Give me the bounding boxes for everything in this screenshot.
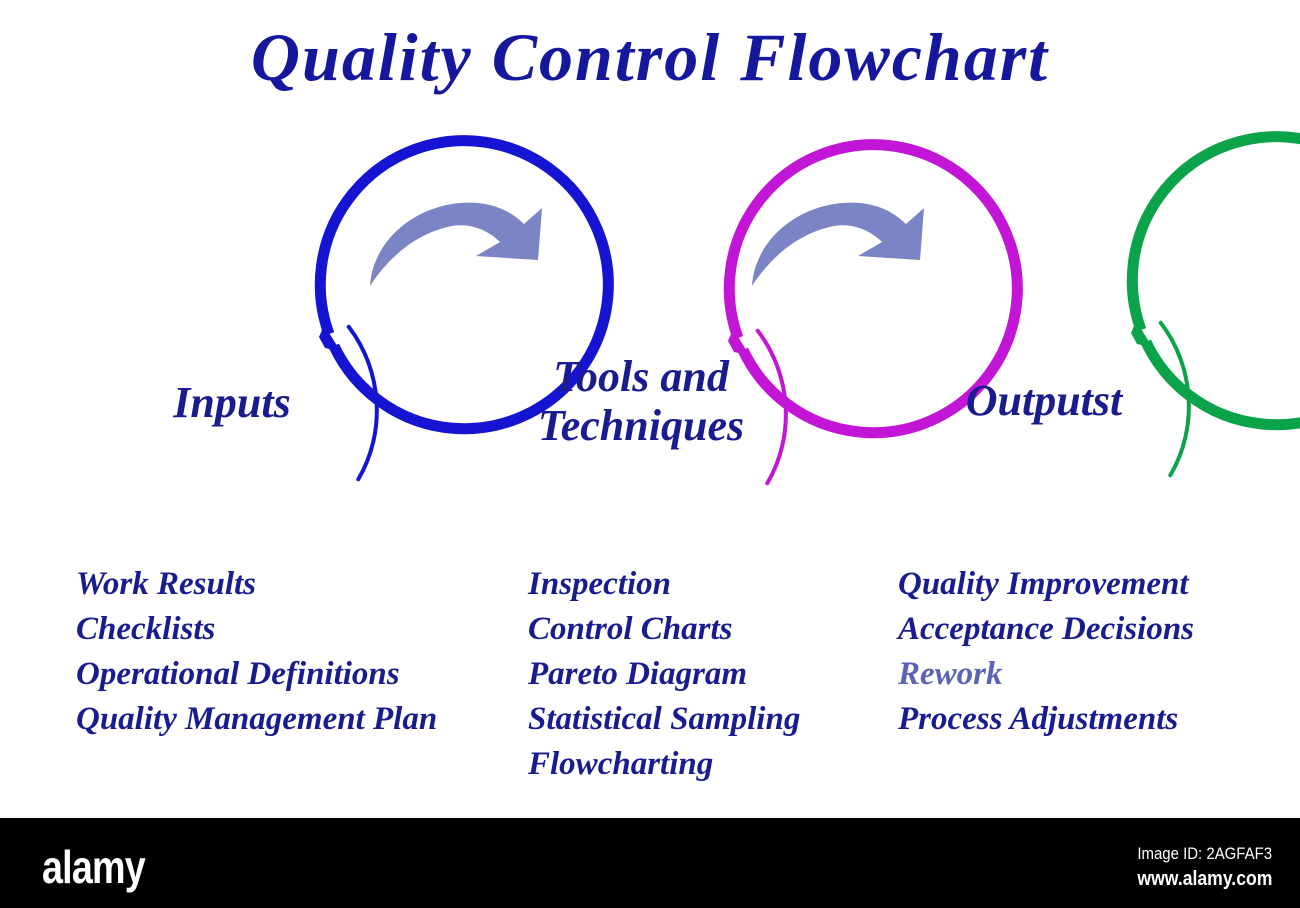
list-item: Statistical Sampling xyxy=(528,697,908,742)
list-item: Checklists xyxy=(76,607,496,652)
list-item: Rework xyxy=(898,652,1298,697)
node-outputs[interactable]: Outputst xyxy=(894,254,1194,554)
list-item: Acceptance Decisions xyxy=(898,607,1298,652)
list-item: Flowcharting xyxy=(528,742,908,787)
list-item: Pareto Diagram xyxy=(528,652,908,697)
list-item: Operational Definitions xyxy=(76,652,496,697)
list-item: Quality Improvement xyxy=(898,562,1298,607)
circular-arrow-tail xyxy=(686,331,839,483)
circular-arrow-body xyxy=(1132,137,1300,425)
node-inputs[interactable]: Inputs xyxy=(82,258,382,558)
list-item: Process Adjustments xyxy=(898,697,1298,742)
circular-arrow-tail xyxy=(1089,323,1242,475)
node-tools-and-techniques[interactable]: Tools and Techniques xyxy=(491,262,791,562)
alamy-url-text: www.alamy.com xyxy=(1137,868,1272,891)
list-item: Control Charts xyxy=(528,607,908,652)
flowchart-canvas: Quality Control Flowchart Inputs xyxy=(0,0,1300,908)
circular-arrow-tail xyxy=(277,327,430,479)
list-item: Quality Management Plan xyxy=(76,697,496,742)
list-item: Inspection xyxy=(528,562,908,607)
page-title: Quality Control Flowchart xyxy=(0,18,1300,97)
alamy-logo: alamy xyxy=(42,840,145,894)
watermark-footer: alamy Image ID: 2AGFAF3 www.alamy.com xyxy=(0,818,1300,908)
list-item: Work Results xyxy=(76,562,496,607)
list-inputs: Work Results Checklists Operational Defi… xyxy=(76,562,496,742)
list-outputs: Quality Improvement Acceptance Decisions… xyxy=(898,562,1298,742)
image-id-text: Image ID: 2AGFAF3 xyxy=(1137,844,1272,864)
list-tools: Inspection Control Charts Pareto Diagram… xyxy=(528,562,908,787)
